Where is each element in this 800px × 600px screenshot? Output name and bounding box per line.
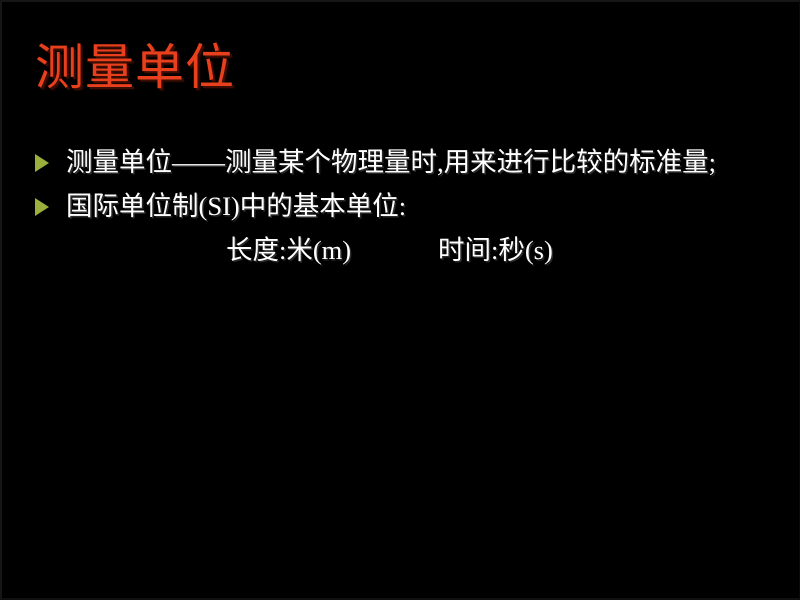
bullet-text: 测量单位——测量某个物理量时,用来进行比较的标准量; xyxy=(66,142,780,182)
slide-canvas: 测量单位 测量单位——测量某个物理量时,用来进行比较的标准量; 国际单位制(SI… xyxy=(0,0,800,600)
list-item: 国际单位制(SI)中的基本单位: xyxy=(30,186,780,226)
triangle-right-icon xyxy=(35,198,49,216)
bullet-text: 国际单位制(SI)中的基本单位: xyxy=(66,186,780,226)
list-item: 测量单位——测量某个物理量时,用来进行比较的标准量; xyxy=(30,142,780,182)
slide-body: 测量单位——测量某个物理量时,用来进行比较的标准量; 国际单位制(SI)中的基本… xyxy=(30,142,780,270)
page-title: 测量单位 xyxy=(35,38,765,98)
sub-line-units: 长度:米(m) 时间:秒(s) xyxy=(30,230,780,270)
title-block: 测量单位 xyxy=(35,38,765,110)
triangle-right-icon xyxy=(35,154,49,172)
